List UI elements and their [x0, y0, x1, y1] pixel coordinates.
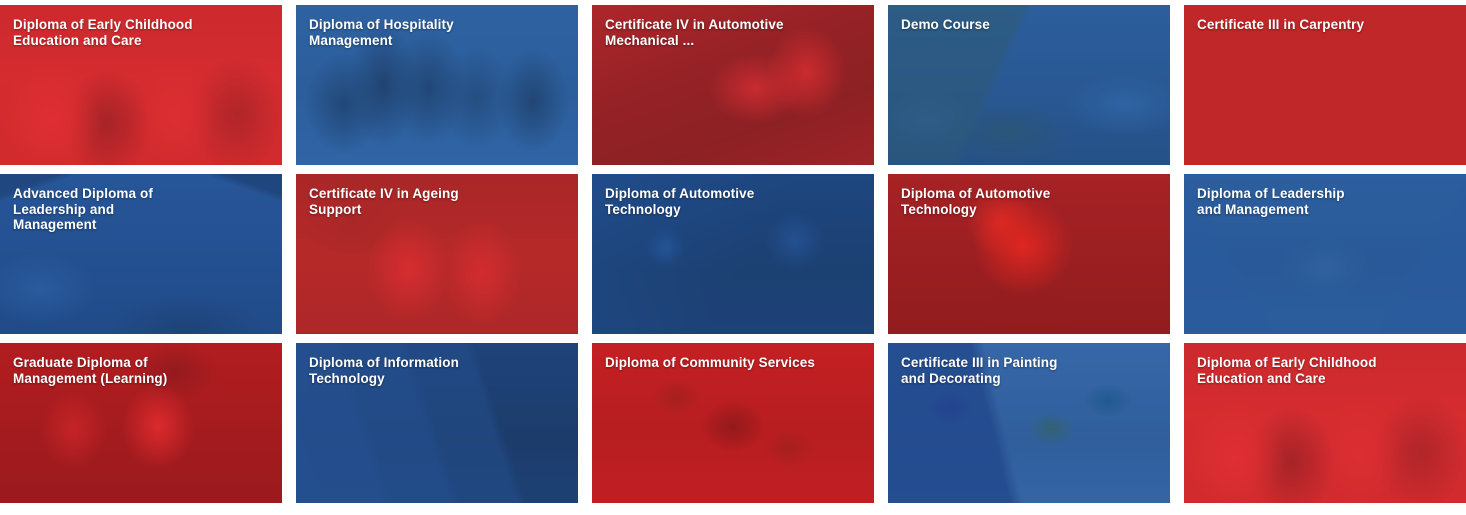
- course-card-link[interactable]: [0, 343, 282, 503]
- course-card-link[interactable]: [888, 343, 1170, 503]
- course-card[interactable]: Diploma of Information Technology: [296, 343, 578, 503]
- course-card[interactable]: Certificate III in Painting and Decorati…: [888, 343, 1170, 503]
- course-card-link[interactable]: [1184, 5, 1466, 165]
- course-card-link[interactable]: [888, 5, 1170, 165]
- course-card[interactable]: Certificate III in Carpentry: [1184, 5, 1466, 165]
- course-card[interactable]: Demo Course: [888, 5, 1170, 165]
- course-card-link[interactable]: [592, 174, 874, 334]
- course-card-link[interactable]: [1184, 343, 1466, 503]
- course-card-link[interactable]: [0, 5, 282, 165]
- course-card[interactable]: Diploma of Leadership and Management: [1184, 174, 1466, 334]
- course-card[interactable]: Graduate Diploma of Management (Learning…: [0, 343, 282, 503]
- course-card[interactable]: Diploma of Hospitality Management: [296, 5, 578, 165]
- course-card-link[interactable]: [592, 343, 874, 503]
- course-card[interactable]: Diploma of Community Services: [592, 343, 874, 503]
- course-card[interactable]: Certificate IV in Automotive Mechanical …: [592, 5, 874, 165]
- course-card-link[interactable]: [296, 174, 578, 334]
- course-card[interactable]: Certificate IV in Ageing Support: [296, 174, 578, 334]
- course-card-grid: Diploma of Early Childhood Education and…: [0, 0, 1466, 503]
- course-card[interactable]: Diploma of Automotive Technology: [888, 174, 1170, 334]
- course-card[interactable]: Advanced Diploma of Leadership and Manag…: [0, 174, 282, 334]
- course-card[interactable]: Diploma of Early Childhood Education and…: [0, 5, 282, 165]
- course-card[interactable]: Diploma of Early Childhood Education and…: [1184, 343, 1466, 503]
- course-card-link[interactable]: [296, 5, 578, 165]
- course-card-link[interactable]: [592, 5, 874, 165]
- course-card-link[interactable]: [888, 174, 1170, 334]
- course-card-link[interactable]: [1184, 174, 1466, 334]
- course-card[interactable]: Diploma of Automotive Technology: [592, 174, 874, 334]
- course-card-link[interactable]: [0, 174, 282, 334]
- course-card-link[interactable]: [296, 343, 578, 503]
